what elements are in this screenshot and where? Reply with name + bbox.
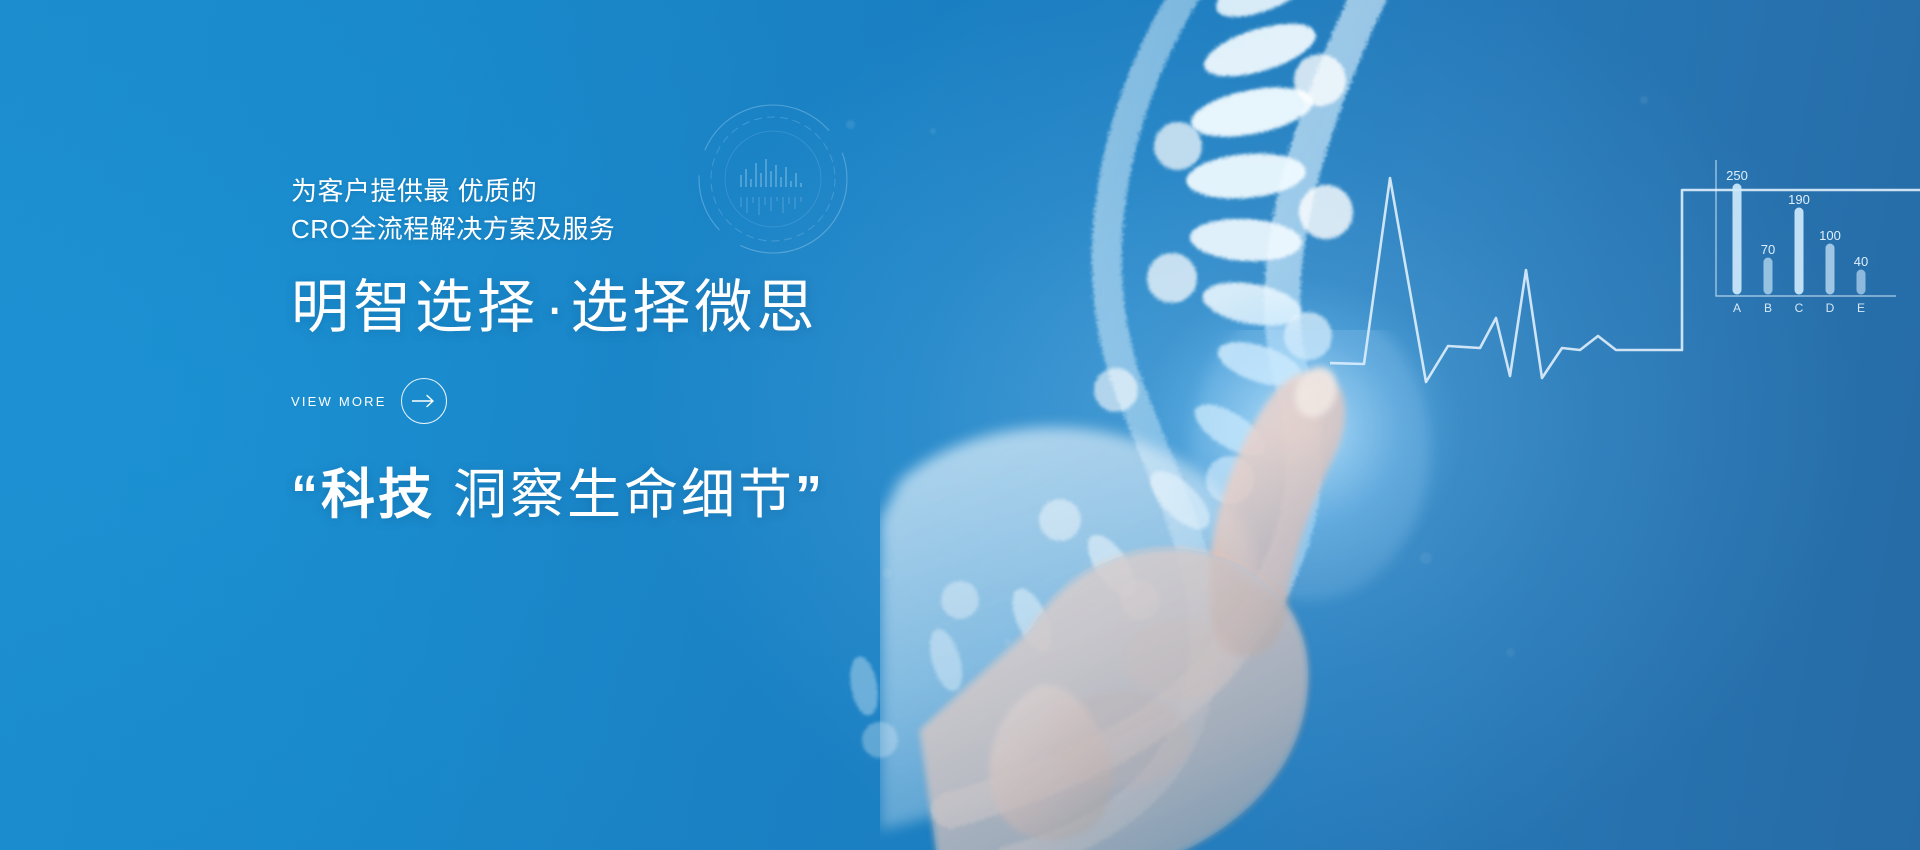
view-more-button[interactable]: VIEW MORE (291, 378, 447, 424)
hero-subtitle-line-1: 为客户提供最 优质的 (291, 176, 537, 206)
bar-value-label: 190 (1788, 192, 1810, 207)
bokeh-dot (1640, 96, 1648, 104)
hero-content: 为客户提供最 优质的 CRO全流程解决方案及服务 明智选择·选择微思 VIEW … (291, 0, 991, 850)
hero-headline-right: 选择微思 (570, 275, 818, 340)
hero-headline-left: 明智选择 (291, 275, 539, 340)
arrow-right-icon[interactable] (401, 378, 447, 424)
hero-subtitle: 为客户提供最 优质的 CRO全流程解决方案及服务 (291, 172, 615, 248)
bar-value-label: 70 (1761, 242, 1775, 257)
pointing-hand-icon (880, 330, 1640, 850)
bar-category-label: D (1826, 301, 1835, 315)
hero-banner: 250 70 190 100 40 A B C D E (0, 0, 1920, 850)
hero-quote: “科技 洞察生命细节” (291, 458, 825, 532)
bar-value-label: 250 (1726, 168, 1748, 183)
bar-value-label: 40 (1854, 254, 1868, 269)
hero-headline-separator: · (539, 275, 570, 340)
quote-light-text: 洞察生命细节 (435, 465, 795, 525)
quote-open-mark: “ (291, 465, 321, 525)
bar-category-label: A (1733, 301, 1741, 315)
quote-strong-text: 科技 (321, 465, 435, 525)
bar-category-label: B (1764, 301, 1772, 315)
bar-chart-svg: 250 70 190 100 40 A B C D E (1700, 150, 1900, 320)
bar-chart: 250 70 190 100 40 A B C D E (1700, 150, 1900, 320)
bar-value-label: 100 (1819, 228, 1841, 243)
hero-headline: 明智选择·选择微思 (291, 272, 818, 344)
hero-subtitle-line-2: CRO全流程解决方案及服务 (291, 210, 615, 248)
bar-category-label: E (1857, 301, 1865, 315)
bar-category-label: C (1795, 301, 1804, 315)
view-more-label: VIEW MORE (291, 394, 387, 409)
quote-close-mark: ” (795, 465, 825, 525)
